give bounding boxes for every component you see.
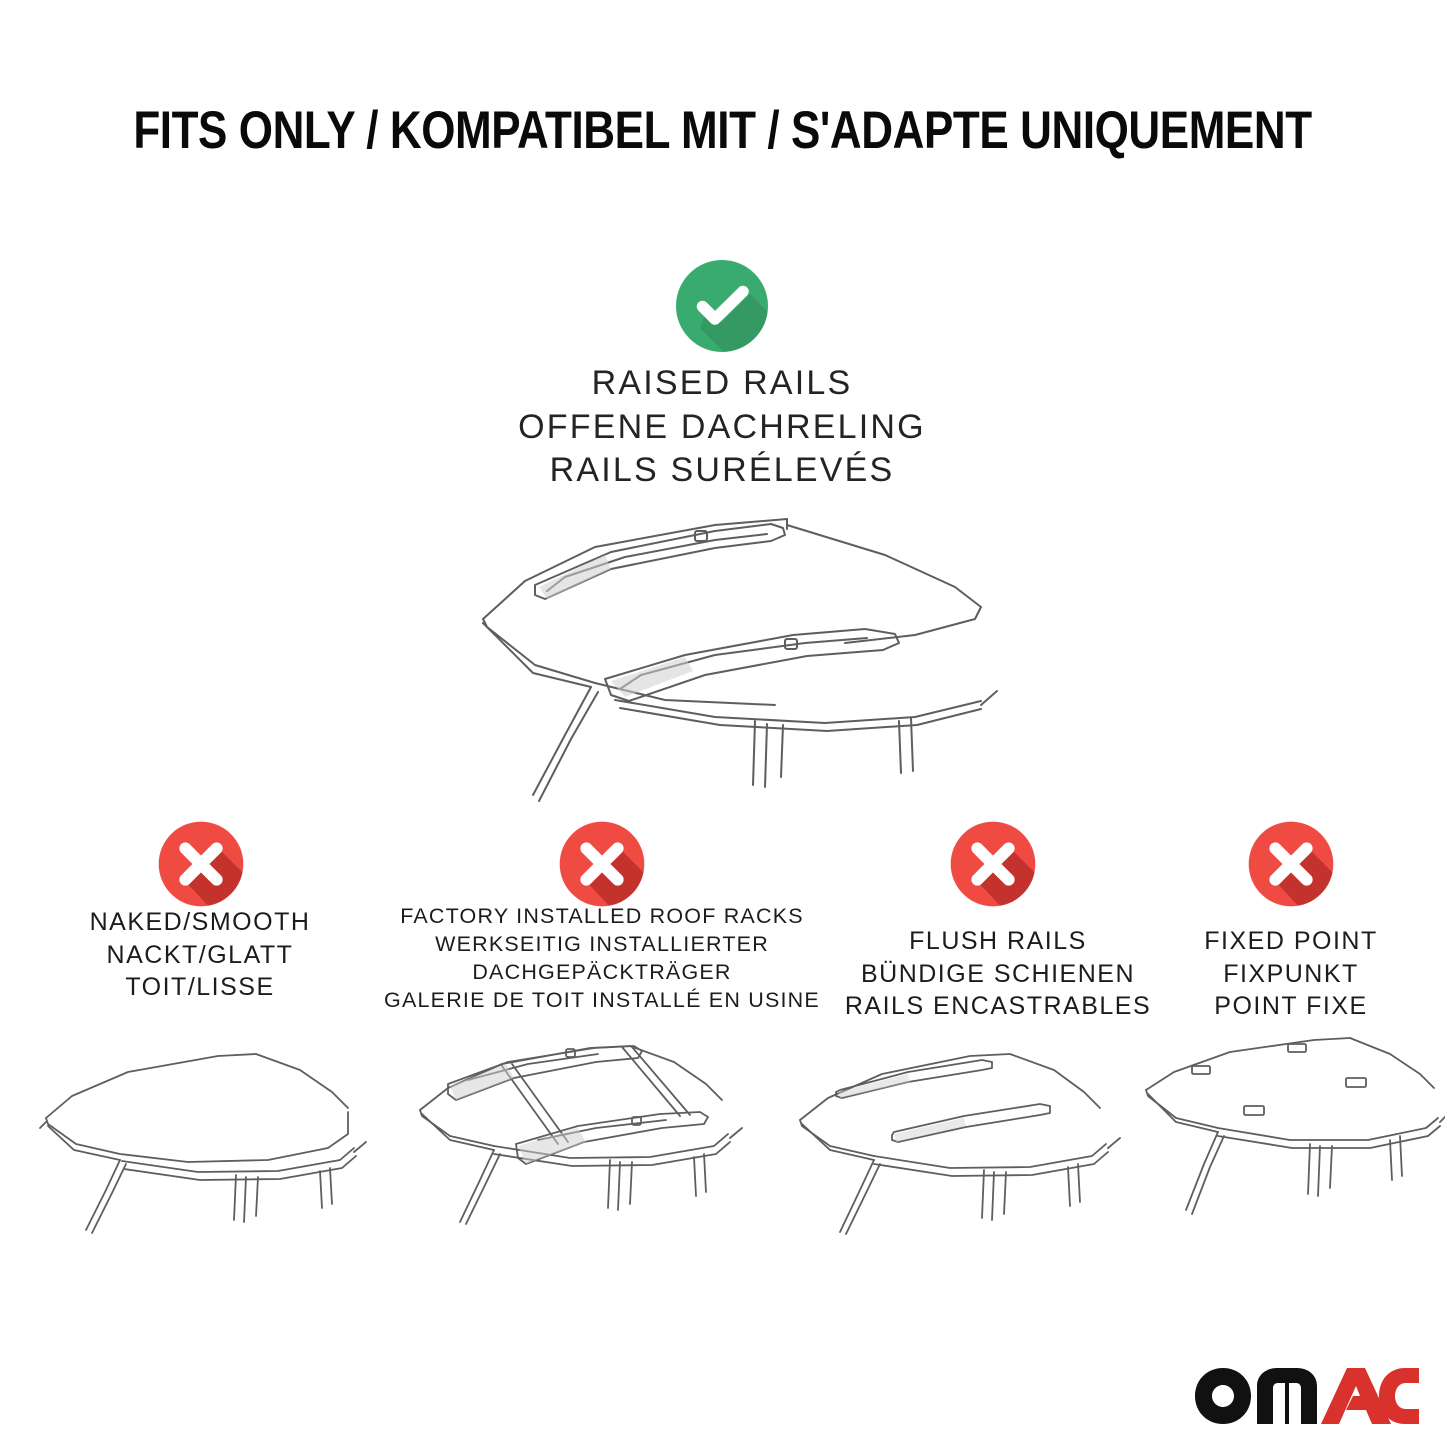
cross-circle-icon	[556, 818, 648, 910]
car-roof-naked-smooth-illustration	[28, 1030, 378, 1240]
caption-line: POINT FIXE	[1131, 990, 1445, 1023]
incompatible-caption-fixed-point: FIXED POINT FIXPUNKT POINT FIXE	[1131, 925, 1445, 1023]
caption-line: RAILS ENCASTRABLES	[828, 990, 1168, 1023]
car-roof-flush-rails-illustration	[778, 1028, 1138, 1243]
incompatible-caption-factory-racks: FACTORY INSTALLED ROOF RACKS WERKSEITIG …	[362, 903, 842, 1015]
caption-line: DACHGEPÄCKTRÄGER	[362, 959, 842, 987]
compatible-caption: RAISED RAILS OFFENE DACHRELING RAILS SUR…	[422, 362, 1022, 493]
incompatible-caption-naked-smooth: NAKED/SMOOTH NACKT/GLATT TOIT/LISSE	[30, 906, 370, 1004]
cross-circle-icon	[155, 818, 247, 910]
caption-line: TOIT/LISSE	[30, 971, 370, 1004]
page-title: FITS ONLY / KOMPATIBEL MIT / S'ADAPTE UN…	[123, 104, 1322, 157]
caption-line: RAISED RAILS	[422, 362, 1022, 406]
caption-line: FLUSH RAILS	[828, 925, 1168, 958]
car-roof-fixed-point-illustration	[1138, 1028, 1445, 1243]
caption-line: GALERIE DE TOIT INSTALLÉ EN USINE	[362, 987, 842, 1015]
caption-line: FACTORY INSTALLED ROOF RACKS	[362, 903, 842, 931]
caption-line: WERKSEITIG INSTALLIERTER	[362, 931, 842, 959]
fitment-infographic: FITS ONLY / KOMPATIBEL MIT / S'ADAPTE UN…	[0, 0, 1445, 1445]
incompatible-caption-flush-rails: FLUSH RAILS BÜNDIGE SCHIENEN RAILS ENCAS…	[828, 925, 1168, 1023]
caption-line: FIXPUNKT	[1131, 958, 1445, 991]
check-circle-icon	[672, 256, 772, 356]
caption-line: BÜNDIGE SCHIENEN	[828, 958, 1168, 991]
car-roof-raised-rails-illustration	[415, 495, 1030, 805]
caption-line: NAKED/SMOOTH	[30, 906, 370, 939]
car-roof-factory-racks-illustration	[398, 1018, 758, 1240]
caption-line: FIXED POINT	[1131, 925, 1445, 958]
caption-line: OFFENE DACHRELING	[422, 406, 1022, 450]
cross-circle-icon	[947, 818, 1039, 910]
cross-circle-icon	[1245, 818, 1337, 910]
caption-line: NACKT/GLATT	[30, 939, 370, 972]
omac-logo	[1193, 1366, 1421, 1426]
caption-line: RAILS SURÉLEVÉS	[422, 449, 1022, 493]
